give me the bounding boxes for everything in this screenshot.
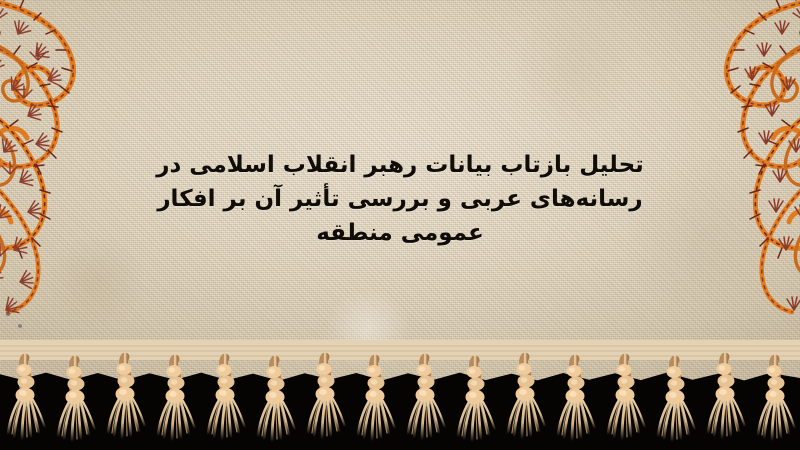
title-line-1: تحلیل بازتاب بیانات رهبر انقلاب اسلامی د… bbox=[140, 148, 660, 182]
title-line-2: رسانه‌های عربی و بررسی تأثیر آن بر افکار bbox=[140, 182, 660, 216]
title-slide: تحلیل بازتاب بیانات رهبر انقلاب اسلامی د… bbox=[0, 0, 800, 450]
tassel-fringe bbox=[0, 340, 800, 450]
slide-title: تحلیل بازتاب بیانات رهبر انقلاب اسلامی د… bbox=[140, 148, 660, 250]
title-line-3: عمومی منطقه bbox=[140, 216, 660, 250]
